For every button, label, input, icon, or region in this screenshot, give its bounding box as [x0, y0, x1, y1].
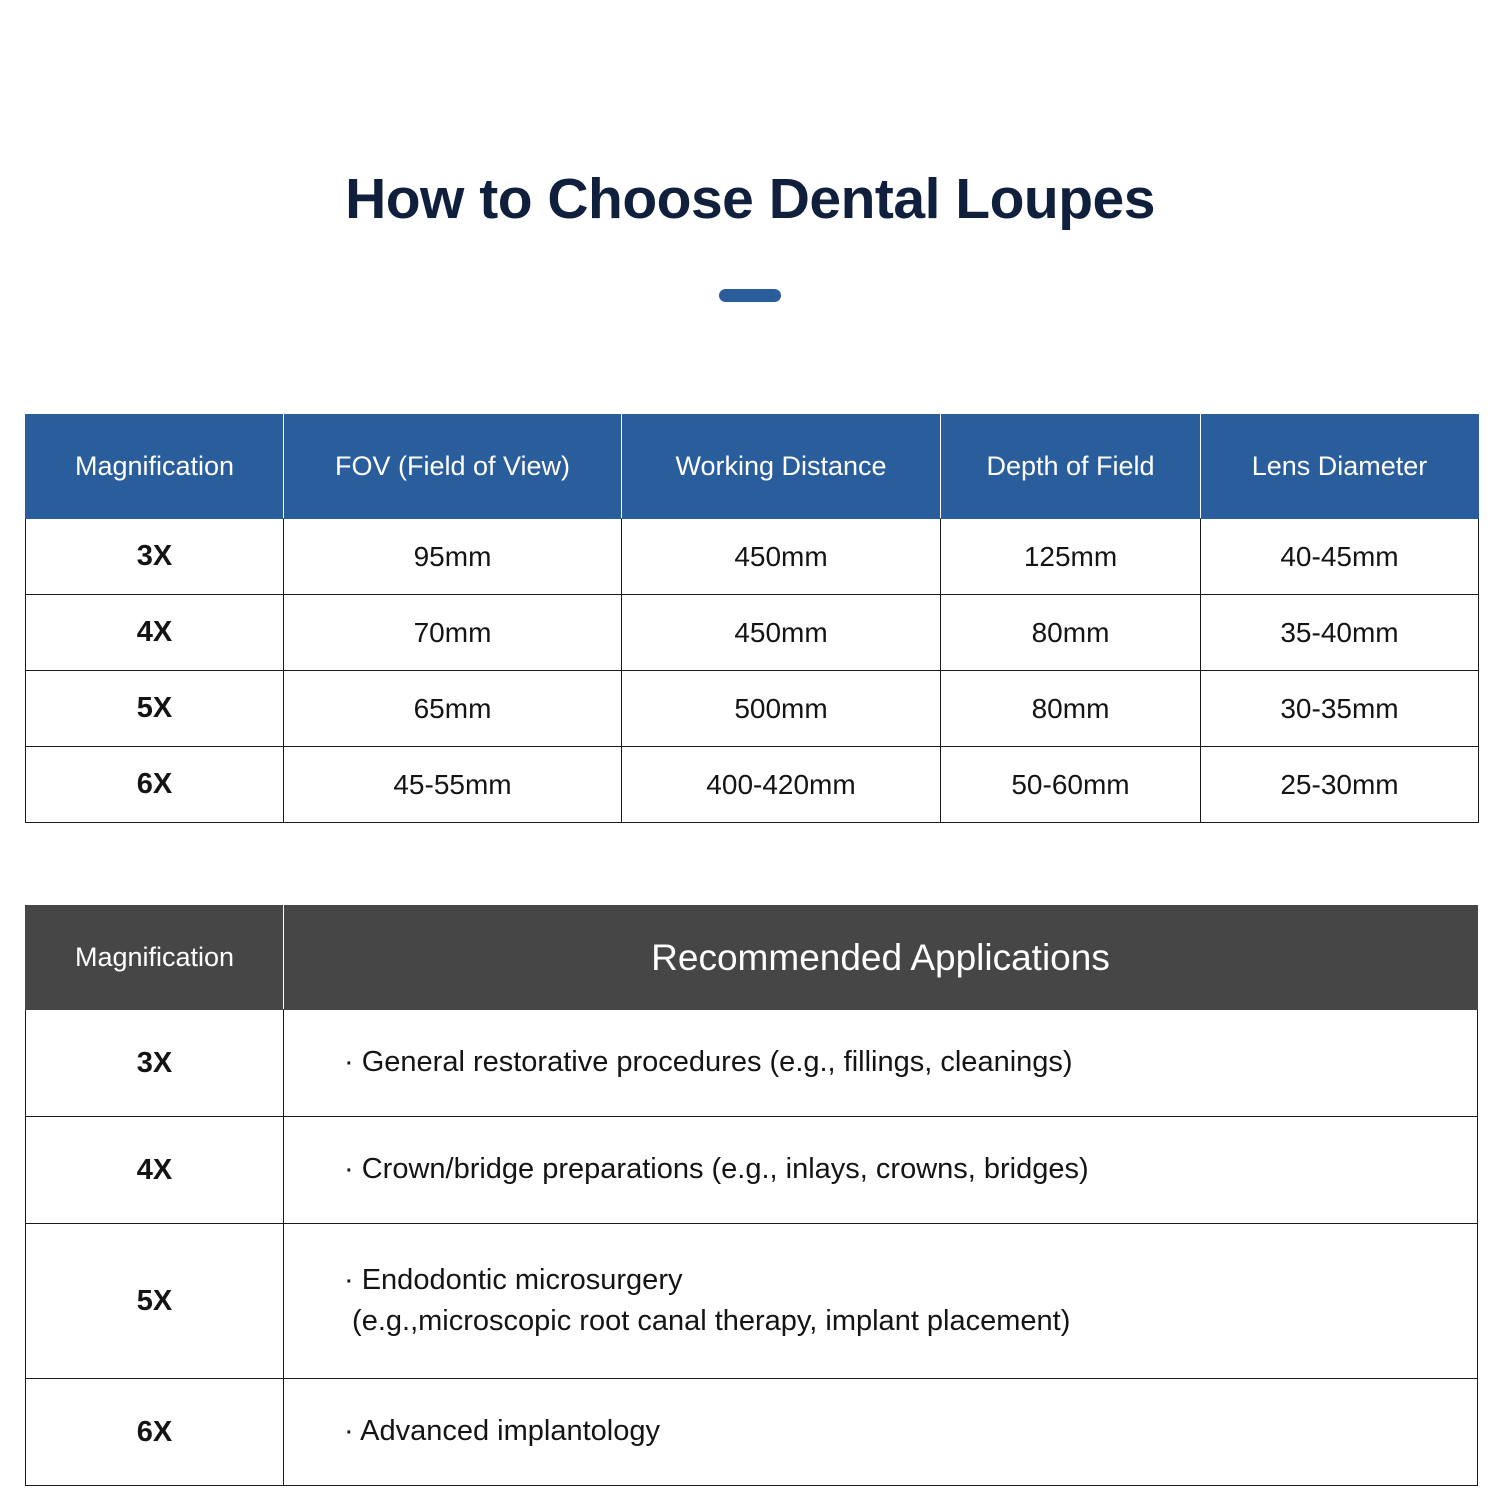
page-title: How to Choose Dental Loupes — [0, 168, 1500, 231]
cell-working-distance: 400-420mm — [622, 747, 941, 823]
table-row: 3X · General restorative procedures (e.g… — [26, 1010, 1478, 1117]
column-header-recommended-applications: Recommended Applications — [284, 906, 1478, 1010]
cell-lens-diameter: 40-45mm — [1201, 519, 1479, 595]
cell-lens-diameter: 30-35mm — [1201, 671, 1479, 747]
application-bullet-continued: (e.g.,microscopic root canal therapy, im… — [344, 1301, 1477, 1342]
table-row: 5X · Endodontic microsurgery (e.g.,micro… — [26, 1224, 1478, 1379]
cell-applications: · General restorative procedures (e.g., … — [284, 1010, 1478, 1117]
table-row: 4X · Crown/bridge preparations (e.g., in… — [26, 1117, 1478, 1224]
cell-depth-of-field: 80mm — [941, 671, 1201, 747]
application-bullet: · Crown/bridge preparations (e.g., inlay… — [344, 1149, 1477, 1190]
cell-applications: · Advanced implantology — [284, 1379, 1478, 1486]
cell-magnification: 4X — [26, 595, 284, 671]
application-bullet: · Endodontic microsurgery — [344, 1260, 1477, 1301]
applications-table-container: Magnification Recommended Applications 3… — [25, 905, 1478, 1486]
cell-applications: · Endodontic microsurgery (e.g.,microsco… — [284, 1224, 1478, 1379]
cell-magnification: 5X — [26, 1224, 284, 1379]
cell-fov: 65mm — [284, 671, 622, 747]
applications-table: Magnification Recommended Applications 3… — [25, 905, 1478, 1486]
table-header-row: Magnification Recommended Applications — [26, 906, 1478, 1010]
application-bullet: · Advanced implantology — [344, 1411, 1477, 1452]
application-bullet: · General restorative procedures (e.g., … — [344, 1042, 1477, 1083]
cell-depth-of-field: 80mm — [941, 595, 1201, 671]
cell-working-distance: 450mm — [622, 595, 941, 671]
column-header-lens-diameter: Lens Diameter — [1201, 415, 1479, 519]
cell-magnification: 6X — [26, 1379, 284, 1486]
table-row: 3X 95mm 450mm 125mm 40-45mm — [26, 519, 1479, 595]
title-accent-bar — [719, 289, 781, 302]
cell-working-distance: 450mm — [622, 519, 941, 595]
cell-depth-of-field: 125mm — [941, 519, 1201, 595]
cell-magnification: 3X — [26, 519, 284, 595]
table-row: 6X · Advanced implantology — [26, 1379, 1478, 1486]
column-header-working-distance: Working Distance — [622, 415, 941, 519]
table-row: 6X 45-55mm 400-420mm 50-60mm 25-30mm — [26, 747, 1479, 823]
cell-magnification: 5X — [26, 671, 284, 747]
cell-magnification: 6X — [26, 747, 284, 823]
cell-depth-of-field: 50-60mm — [941, 747, 1201, 823]
cell-applications: · Crown/bridge preparations (e.g., inlay… — [284, 1117, 1478, 1224]
column-header-magnification: Magnification — [26, 906, 284, 1010]
cell-lens-diameter: 35-40mm — [1201, 595, 1479, 671]
cell-fov: 95mm — [284, 519, 622, 595]
table-header-row: Magnification FOV (Field of View) Workin… — [26, 415, 1479, 519]
table-row: 4X 70mm 450mm 80mm 35-40mm — [26, 595, 1479, 671]
specifications-table: Magnification FOV (Field of View) Workin… — [25, 414, 1479, 823]
column-header-depth-of-field: Depth of Field — [941, 415, 1201, 519]
cell-working-distance: 500mm — [622, 671, 941, 747]
cell-magnification: 3X — [26, 1010, 284, 1117]
cell-lens-diameter: 25-30mm — [1201, 747, 1479, 823]
specifications-table-container: Magnification FOV (Field of View) Workin… — [25, 414, 1478, 823]
cell-magnification: 4X — [26, 1117, 284, 1224]
page-header: How to Choose Dental Loupes — [0, 0, 1500, 302]
cell-fov: 70mm — [284, 595, 622, 671]
cell-fov: 45-55mm — [284, 747, 622, 823]
table-row: 5X 65mm 500mm 80mm 30-35mm — [26, 671, 1479, 747]
column-header-fov: FOV (Field of View) — [284, 415, 622, 519]
column-header-magnification: Magnification — [26, 415, 284, 519]
